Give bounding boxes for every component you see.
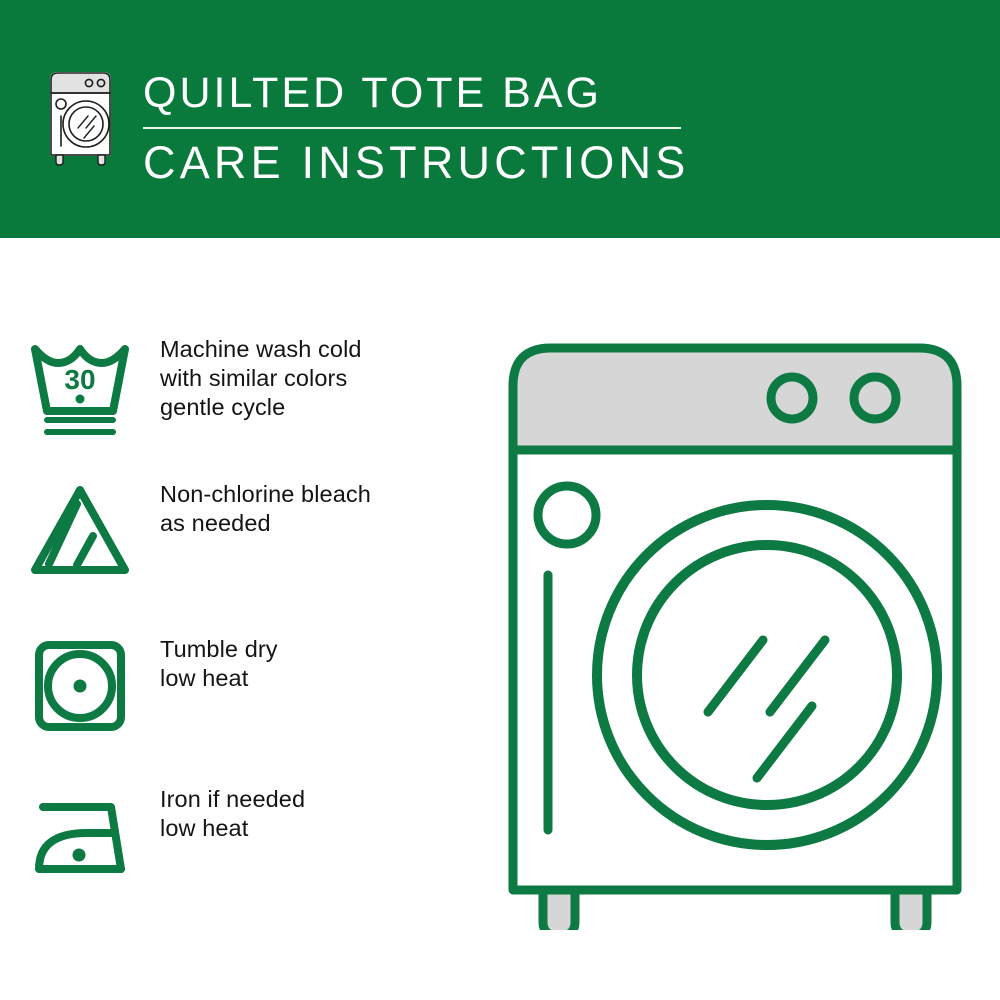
care-row-tumble-dry: Tumble dry low heat <box>0 633 470 738</box>
care-text-line: Iron if needed <box>160 785 305 814</box>
tumble-dry-icon <box>0 633 160 738</box>
wash-temperature-label: 30 <box>64 364 95 395</box>
care-text-line: low heat <box>160 814 305 843</box>
care-text-line: Tumble dry <box>160 635 278 664</box>
care-row-iron: Iron if needed low heat <box>0 783 470 888</box>
care-text-line: low heat <box>160 664 278 693</box>
care-text-line: Machine wash cold <box>160 335 362 364</box>
title-divider <box>143 127 681 129</box>
care-instruction-list: 30 Machine wash cold with similar colors… <box>0 238 470 1000</box>
care-text-line: with similar colors <box>160 364 362 393</box>
bleach-triangle-icon <box>0 478 160 583</box>
machine-leg-right <box>895 890 927 930</box>
iron-icon <box>0 783 160 888</box>
care-text-line: gentle cycle <box>160 393 362 422</box>
page-title: CARE INSTRUCTIONS <box>143 137 703 189</box>
header-title-group: QUILTED TOTE BAG CARE INSTRUCTIONS <box>143 68 703 189</box>
care-row-wash: 30 Machine wash cold with similar colors… <box>0 333 470 438</box>
wash-tub-icon: 30 <box>0 333 160 438</box>
header-banner: QUILTED TOTE BAG CARE INSTRUCTIONS <box>0 0 1000 238</box>
care-text-tumble-dry: Tumble dry low heat <box>160 633 278 693</box>
care-text-wash: Machine wash cold with similar colors ge… <box>160 333 362 422</box>
care-text-bleach: Non-chlorine bleach as needed <box>160 478 371 538</box>
care-text-line: as needed <box>160 509 371 538</box>
care-text-iron: Iron if needed low heat <box>160 783 305 843</box>
care-instructions-infographic: QUILTED TOTE BAG CARE INSTRUCTIONS 30 <box>0 0 1000 1000</box>
washing-machine-icon <box>45 66 125 166</box>
machine-leg-left <box>543 890 575 930</box>
care-text-line: Non-chlorine bleach <box>160 480 371 509</box>
washing-machine-illustration <box>495 330 975 930</box>
product-title: QUILTED TOTE BAG <box>143 68 703 118</box>
care-row-bleach: Non-chlorine bleach as needed <box>0 478 470 583</box>
